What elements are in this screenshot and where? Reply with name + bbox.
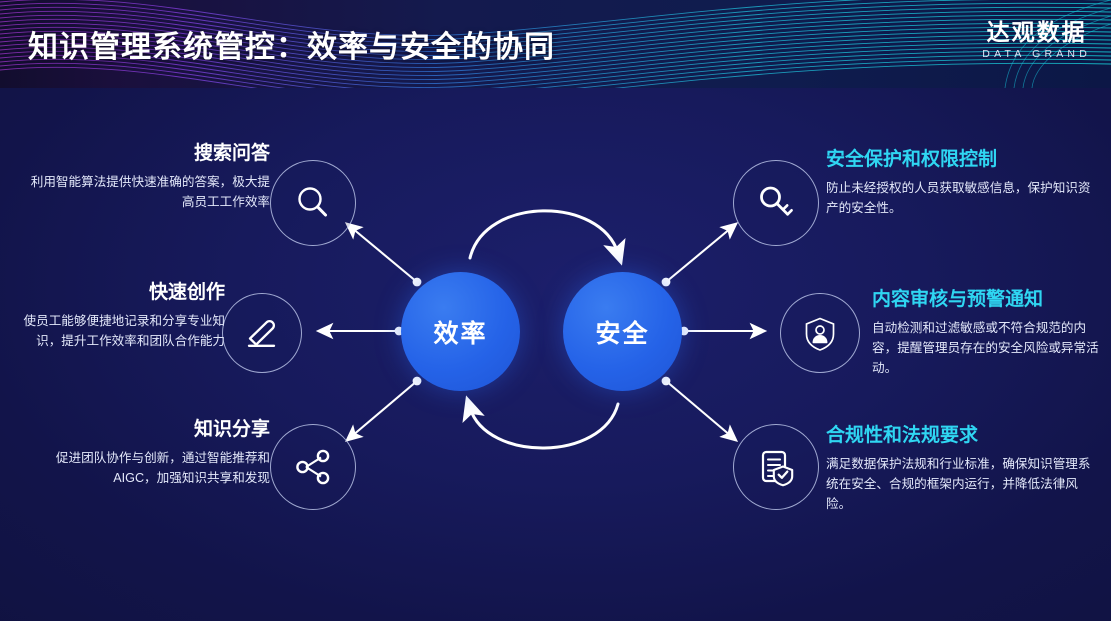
feature-block-compliance: 合规性和法规要求 满足数据保护法规和行业标准，确保知识管理系统在安全、合规的框架… bbox=[826, 424, 1096, 514]
logo-english-text: DATA GRAND bbox=[982, 48, 1091, 60]
brand-logo: 达观数据 DATA GRAND bbox=[982, 20, 1091, 60]
icon-bubble-share[interactable] bbox=[270, 424, 356, 510]
feature-block-create: 快速创作 使员工能够便捷地记录和分享专业知识，提升工作效率和团队合作能力 bbox=[10, 281, 225, 352]
feature-title: 快速创作 bbox=[10, 281, 225, 305]
feature-title: 搜索问答 bbox=[20, 142, 270, 166]
feature-title: 知识分享 bbox=[18, 418, 270, 442]
cycle-arrow-bottom bbox=[470, 404, 618, 448]
slide-canvas: 知识管理系统管控：效率与安全的协同 达观数据 DATA GRAND bbox=[0, 0, 1111, 621]
feature-desc: 使员工能够便捷地记录和分享专业知识，提升工作效率和团队合作能力 bbox=[10, 312, 225, 352]
feature-desc: 利用智能算法提供快速准确的答案，极大提高员工工作效率 bbox=[20, 173, 270, 213]
icon-bubble-compliance[interactable] bbox=[733, 424, 819, 510]
icon-bubble-create[interactable] bbox=[222, 293, 302, 373]
feature-block-permission: 安全保护和权限控制 防止未经授权的人员获取敏感信息，保护知识资产的安全性。 bbox=[826, 148, 1094, 219]
feature-desc: 自动检测和过滤敏感或不符合规范的内容，提醒管理员存在的安全风险或异常活动。 bbox=[872, 319, 1100, 379]
feature-block-search: 搜索问答 利用智能算法提供快速准确的答案，极大提高员工工作效率 bbox=[20, 142, 270, 213]
core-label-efficiency: 效率 bbox=[433, 314, 487, 350]
page-title: 知识管理系统管控：效率与安全的协同 bbox=[28, 22, 555, 66]
feature-desc: 防止未经授权的人员获取敏感信息，保护知识资产的安全性。 bbox=[826, 179, 1094, 219]
feature-block-audit: 内容审核与预警通知 自动检测和过滤敏感或不符合规范的内容，提醒管理员存在的安全风… bbox=[872, 288, 1100, 378]
share-icon bbox=[290, 444, 336, 490]
feature-title: 内容审核与预警通知 bbox=[872, 288, 1100, 312]
feature-desc: 满足数据保护法规和行业标准，确保知识管理系统在安全、合规的框架内运行，并降低法律… bbox=[826, 455, 1096, 515]
icon-bubble-permission[interactable] bbox=[733, 160, 819, 246]
key-icon bbox=[753, 180, 799, 226]
core-label-security: 安全 bbox=[595, 314, 649, 350]
feature-block-knowledge-share: 知识分享 促进团队协作与创新，通过智能推荐和AIGC，加强知识共享和发现 bbox=[18, 418, 270, 489]
logo-chinese-text: 达观数据 bbox=[982, 20, 1091, 45]
feature-desc: 促进团队协作与创新，通过智能推荐和AIGC，加强知识共享和发现 bbox=[18, 449, 270, 489]
cycle-arrow-top bbox=[470, 211, 618, 258]
icon-bubble-search[interactable] bbox=[270, 160, 356, 246]
shield-user-icon bbox=[799, 312, 841, 354]
feature-title: 安全保护和权限控制 bbox=[826, 148, 1094, 172]
icon-bubble-audit[interactable] bbox=[780, 293, 860, 373]
core-node-security[interactable]: 安全 bbox=[563, 272, 682, 391]
document-check-icon bbox=[753, 444, 799, 490]
feature-title: 合规性和法规要求 bbox=[826, 424, 1096, 448]
pen-icon bbox=[241, 312, 283, 354]
magnifier-icon bbox=[291, 181, 335, 225]
core-node-efficiency[interactable]: 效率 bbox=[401, 272, 520, 391]
